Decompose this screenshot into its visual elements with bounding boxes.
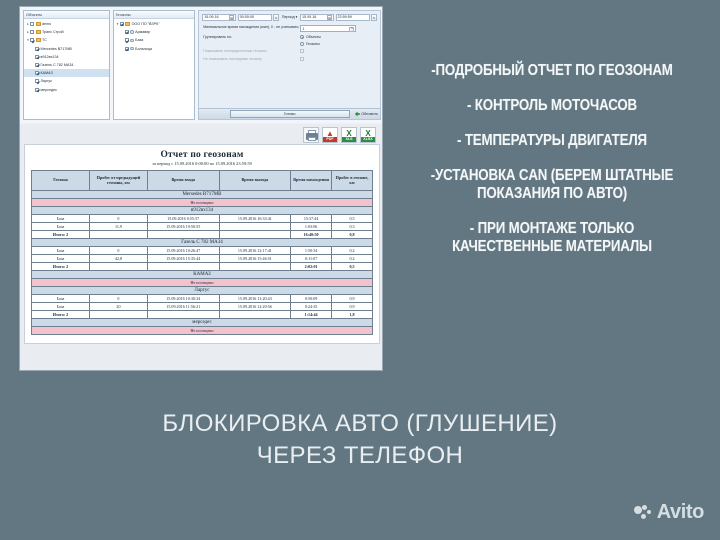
min-stay-stepper[interactable]: ⇅ xyxy=(349,27,354,33)
cell-prev-km: 0 xyxy=(89,295,147,303)
objects-tree-item[interactable]: ▸demo xyxy=(24,20,109,28)
not-visited-row: Не посещено xyxy=(32,327,373,335)
table-row: База11,915.09.2016 19:50:551:03:060,3 xyxy=(32,223,373,231)
settings-button-bar: Готово Обновить xyxy=(199,108,380,119)
extra-options-list[interactable]: Показывать неопределенные геозоныНе пока… xyxy=(203,49,376,62)
tree-checkbox[interactable] xyxy=(35,79,39,83)
tree-item-label: Газель С 782 МА34 xyxy=(41,63,74,67)
period-label: Период xyxy=(282,15,295,19)
pdf-glyph: ▲ xyxy=(323,129,337,138)
cell-geozone: База xyxy=(32,295,90,303)
geozone-icon xyxy=(130,39,134,43)
cell-prev-km: 0 xyxy=(89,247,147,255)
cell-exit: 15.09.2016 16:33:41 xyxy=(219,215,291,223)
not-visited-text: Не посещено xyxy=(32,327,373,335)
tree-checkbox[interactable] xyxy=(30,30,34,34)
group-total-row: Итого: 22:02:010,5 xyxy=(32,263,373,271)
objects-tree-item[interactable]: КАМАЗ xyxy=(24,69,109,77)
group-by-row: Группировать по: ОбъектыГеозоны xyxy=(203,35,376,46)
tree-item-label: Ларгус xyxy=(41,79,53,83)
table-column-header: Время нахождения xyxy=(291,171,332,191)
xls-export-icon[interactable]: X XLS xyxy=(341,127,357,143)
total-empty-cell xyxy=(89,263,147,271)
table-column-header: Время входа xyxy=(147,171,219,191)
geozones-tree-list[interactable]: ▾ООО ПО "ВЗРК"АрмавирБазаБольница xyxy=(114,19,195,53)
tree-checkbox[interactable] xyxy=(35,55,39,59)
cell-km: 0,5 xyxy=(332,215,373,223)
total-empty-cell xyxy=(147,231,219,239)
cell-geozone: База xyxy=(32,255,90,263)
date-range-row: 15.09.16 ▤ 00:00:00 ⇅ Период ▾ 15.09.16 … xyxy=(199,11,380,21)
geozones-tree-item[interactable]: База xyxy=(114,36,195,44)
tree-item-label: КАМАЗ xyxy=(41,71,53,75)
cell-duration: 1:50:54 xyxy=(291,247,332,255)
extra-option-row[interactable]: Показывать неопределенные геозоны xyxy=(203,49,376,54)
total-empty-cell xyxy=(89,311,147,319)
total-label: Итого: 2 xyxy=(32,311,90,319)
total-empty-cell xyxy=(147,311,219,319)
refresh-button[interactable]: Обновить xyxy=(355,112,378,117)
total-empty-cell xyxy=(219,263,291,271)
tree-item-label: мерседес xyxy=(41,88,58,92)
geozones-tree-item[interactable]: Армавир xyxy=(114,28,195,36)
tracking-app-screenshot: Объекты ▸demo▸Транс Строй▾ТСMercedes B71… xyxy=(19,6,383,371)
total-duration: 16:40:50 xyxy=(291,231,332,239)
total-label: Итого: 2 xyxy=(32,231,90,239)
cell-km: 0,2 xyxy=(332,255,373,263)
tree-checkbox[interactable] xyxy=(120,22,124,26)
cell-prev-km: 11,9 xyxy=(89,223,147,231)
objects-tree-item[interactable]: ▾ТС xyxy=(24,36,109,44)
total-km: 0,8 xyxy=(332,231,373,239)
tree-checkbox[interactable] xyxy=(35,47,39,51)
print-icon[interactable] xyxy=(303,127,319,143)
promo-line: -УСТАНОВКА CAN (БЕРЕМ ШТАТНЫЕ ПОКАЗАНИЯ … xyxy=(414,167,689,203)
time-from-field[interactable]: 00:00:00 xyxy=(238,14,272,22)
time-to-field[interactable]: 23:59:59 xyxy=(336,14,370,22)
calendar-icon-2[interactable]: ▤ xyxy=(327,15,332,20)
tree-item-label: demo xyxy=(42,22,51,26)
cell-enter: 15.09.2016 10:30:34 xyxy=(147,295,219,303)
extra-option-row[interactable]: Не показывать последнюю геозону xyxy=(203,57,376,62)
group-name: Mersedes B717MB xyxy=(32,191,373,199)
not-visited-row: Не посещено xyxy=(32,279,373,287)
group-name: КАМАЗ xyxy=(32,271,373,279)
cell-exit: 15.09.2016 12:20:56 xyxy=(219,303,291,311)
promo-feature-list: -ПОДРОБНЫЙ ОТЧЕТ ПО ГЕОЗОНАМ- КОНТРОЛЬ М… xyxy=(392,62,712,256)
cell-prev-km: 0 xyxy=(89,215,147,223)
cell-exit xyxy=(219,223,291,231)
not-visited-text: Не посещено xyxy=(32,279,373,287)
cell-geozone: База xyxy=(32,303,90,311)
extra-option-checkbox[interactable] xyxy=(300,49,304,53)
cell-km: 0,9 xyxy=(332,303,373,311)
caption-line-2: ЧЕРЕЗ ТЕЛЕФОН xyxy=(0,440,720,472)
extra-option-label: Не показывать последнюю геозону xyxy=(203,57,300,62)
tree-checkbox[interactable] xyxy=(125,38,129,42)
min-stay-row: Минимальное время нахождения (мин), 0 - … xyxy=(203,25,376,32)
cell-geozone: База xyxy=(32,247,90,255)
date-to-value: 15.09.16 xyxy=(302,15,316,19)
tree-checkbox[interactable] xyxy=(35,71,39,75)
table-row: База2015.09.2016 11:56:2115.09.2016 12:2… xyxy=(32,303,373,311)
cell-exit: 15.09.2016 15:46:51 xyxy=(219,255,291,263)
min-stay-value: 1 xyxy=(302,27,304,31)
table-column-header: Время выхода xyxy=(219,171,291,191)
geozone-icon xyxy=(130,47,134,51)
xlsx-glyph: X xyxy=(361,129,375,138)
folder-icon xyxy=(125,22,130,26)
radio-label: Геозоны xyxy=(306,42,320,46)
settings-fields: Минимальное время нахождения (мин), 0 - … xyxy=(199,21,380,62)
tree-item-label: Транс Строй xyxy=(42,30,64,34)
objects-tree-panel[interactable]: Объекты ▸demo▸Транс Строй▾ТСMercedes B71… xyxy=(23,10,110,120)
refresh-label: Обновить xyxy=(361,112,378,116)
objects-tree-item[interactable]: Ларгус xyxy=(24,77,109,85)
total-label: Итого: 2 xyxy=(32,263,90,271)
cell-km: 0,3 xyxy=(332,223,373,231)
total-empty-cell xyxy=(219,231,291,239)
cell-duration: 0:50:09 xyxy=(291,295,332,303)
cell-duration: 1:03:06 xyxy=(291,223,332,231)
table-row: База42,815.09.2016 15:35:4415.09.2016 15… xyxy=(32,255,373,263)
group-total-row: Итого: 216:40:500,8 xyxy=(32,231,373,239)
folder-icon xyxy=(36,38,41,42)
avito-logo-icon xyxy=(634,505,653,521)
radio-button[interactable] xyxy=(300,42,304,46)
tree-checkbox[interactable] xyxy=(125,30,129,34)
geozones-panel-title: Геозоны xyxy=(114,11,195,19)
group-by-option[interactable]: Объекты xyxy=(300,35,321,39)
report-area: ▲ PDF X XLS X XLSX Отчет по геозонам за … xyxy=(20,124,383,371)
extra-option-checkbox[interactable] xyxy=(300,57,304,61)
objects-tree-item[interactable]: ▸Транс Строй xyxy=(24,28,109,36)
report-title: Отчет по геозонам xyxy=(31,150,373,160)
avito-wordmark: Avito xyxy=(657,501,704,524)
cell-km: 0,9 xyxy=(332,295,373,303)
total-empty-cell xyxy=(147,263,219,271)
table-header-row: ГеозонаПробег от предыдущей геозоны, кмВ… xyxy=(32,171,373,191)
avito-watermark: Avito xyxy=(634,501,704,524)
total-km: 1,8 xyxy=(332,311,373,319)
geozones-tree-item[interactable]: Больница xyxy=(114,45,195,53)
group-name: Ларгус xyxy=(32,287,373,295)
table-row: База015.09.2016 10:30:3415.09.2016 11:20… xyxy=(32,295,373,303)
xls-glyph: X xyxy=(342,129,356,138)
tree-checkbox[interactable] xyxy=(35,88,39,92)
cell-exit: 15.09.2016 12:17:41 xyxy=(219,247,291,255)
cell-duration: 15:37:44 xyxy=(291,215,332,223)
geozone-icon xyxy=(130,30,134,34)
table-row: База015.09.2016 10:26:4715.09.2016 12:17… xyxy=(32,247,373,255)
group-header-row: мерседес xyxy=(32,319,373,327)
total-empty-cell xyxy=(219,311,291,319)
group-by-option[interactable]: Геозоны xyxy=(300,42,321,46)
objects-panel-title: Объекты xyxy=(24,11,109,19)
group-header-row: Газель С 782 МА34 xyxy=(32,239,373,247)
total-duration: 2:02:01 xyxy=(291,263,332,271)
extra-option-label: Показывать неопределенные геозоны xyxy=(203,49,300,54)
table-column-header: Пробег от предыдущей геозоны, км xyxy=(89,171,147,191)
table-column-header: Геозона xyxy=(32,171,90,191)
objects-tree-item[interactable]: Газель С 782 МА34 xyxy=(24,61,109,69)
cell-geozone: База xyxy=(32,215,90,223)
cell-prev-km: 42,8 xyxy=(89,255,147,263)
cell-km: 0,2 xyxy=(332,247,373,255)
group-by-label: Группировать по: xyxy=(203,35,300,40)
tree-checkbox[interactable] xyxy=(35,63,39,67)
bottom-caption: БЛОКИРОВКА АВТО (ГЛУШЕНИЕ) ЧЕРЕЗ ТЕЛЕФОН xyxy=(0,408,720,472)
date-from-value: 15.09.16 xyxy=(204,15,218,19)
cell-prev-km: 20 xyxy=(89,303,147,311)
xlsx-export-icon[interactable]: X XLSX xyxy=(360,127,376,143)
date-to-field[interactable]: 15.09.16 ▤ xyxy=(300,14,334,22)
group-header-row: в912вх134 xyxy=(32,207,373,215)
tree-item-label: Mercedes B717MB xyxy=(41,47,72,51)
printer-output-shape xyxy=(308,137,316,141)
cell-geozone: База xyxy=(32,223,90,231)
tree-item-label: ТС xyxy=(42,38,47,42)
objects-tree-item[interactable]: Mercedes B717MB xyxy=(24,45,109,53)
promo-line: - ПРИ МОНТАЖЕ ТОЛЬКО КАЧЕСТВЕННЫЕ МАТЕРИ… xyxy=(414,220,689,256)
radio-button[interactable] xyxy=(300,35,304,39)
time-to-stepper[interactable]: ⇅ xyxy=(371,14,377,22)
promo-line: - КОНТРОЛЬ МОТОЧАСОВ xyxy=(414,97,689,115)
date-from-field[interactable]: 15.09.16 ▤ xyxy=(202,14,236,22)
table-column-header: Пробег в геозоне, км xyxy=(332,171,373,191)
objects-tree-item[interactable]: мерседес xyxy=(24,86,109,94)
ready-button[interactable]: Готово xyxy=(230,110,350,118)
group-name: мерседес xyxy=(32,319,373,327)
group-name: в912вх134 xyxy=(32,207,373,215)
refresh-icon xyxy=(355,112,360,117)
tree-checkbox[interactable] xyxy=(30,38,34,42)
tree-item-label: ООО ПО "ВЗРК" xyxy=(132,22,160,26)
radio-label: Объекты xyxy=(306,35,321,39)
report-sheet: Отчет по геозонам за период с 15.09.2016… xyxy=(24,144,380,344)
geozones-tree-item[interactable]: ▾ООО ПО "ВЗРК" xyxy=(114,20,195,28)
cell-enter: 15.09.2016 11:56:21 xyxy=(147,303,219,311)
cell-enter: 15.09.2016 19:50:55 xyxy=(147,223,219,231)
tree-item-label: Больница xyxy=(135,47,152,51)
objects-tree-list[interactable]: ▸demo▸Транс Строй▾ТСMercedes B717MBв912в… xyxy=(24,19,109,94)
group-by-radios[interactable]: ОбъектыГеозоны xyxy=(300,35,321,46)
promo-line: - ТЕМПЕРАТУРЫ ДВИГАТЕЛЯ xyxy=(414,132,689,150)
tree-checkbox[interactable] xyxy=(30,22,34,26)
promo-line: -ПОДРОБНЫЙ ОТЧЕТ ПО ГЕОЗОНАМ xyxy=(414,62,689,80)
cell-enter: 15.09.2016 10:26:47 xyxy=(147,247,219,255)
total-duration: 1:14:44 xyxy=(291,311,332,319)
caption-line-1: БЛОКИРОВКА АВТО (ГЛУШЕНИЕ) xyxy=(0,408,720,440)
min-stay-input[interactable]: 1 ⇅ xyxy=(300,25,356,32)
min-stay-label: Минимальное время нахождения (мин), 0 - … xyxy=(203,25,300,30)
tree-checkbox[interactable] xyxy=(125,47,129,51)
table-body: Mersedes B717MBНе посещенов912вх134База0… xyxy=(32,191,373,335)
group-header-row: Mersedes B717MB xyxy=(32,191,373,199)
cell-exit: 15.09.2016 11:20:43 xyxy=(219,295,291,303)
total-km: 0,5 xyxy=(332,263,373,271)
time-from-stepper[interactable]: ⇅ xyxy=(273,14,279,22)
table-row: База015.09.2016 0:55:5715.09.2016 16:33:… xyxy=(32,215,373,223)
cell-duration: 0:24:35 xyxy=(291,303,332,311)
group-header-row: КАМАЗ xyxy=(32,271,373,279)
cell-duration: 0:11:07 xyxy=(291,255,332,263)
objects-tree-item[interactable]: в912вх134 xyxy=(24,53,109,61)
not-visited-text: Не посещено xyxy=(32,199,373,207)
geozone-report-table: ГеозонаПробег от предыдущей геозоны, кмВ… xyxy=(31,170,373,335)
cell-enter: 15.09.2016 0:55:57 xyxy=(147,215,219,223)
group-header-row: Ларгус xyxy=(32,287,373,295)
not-visited-row: Не посещено xyxy=(32,199,373,207)
calendar-icon[interactable]: ▤ xyxy=(229,15,234,20)
cell-enter: 15.09.2016 15:35:44 xyxy=(147,255,219,263)
time-from-value: 00:00:00 xyxy=(240,15,254,19)
config-toolbar: Объекты ▸demo▸Транс Строй▾ТСMercedes B71… xyxy=(20,7,383,123)
total-empty-cell xyxy=(89,231,147,239)
report-settings-panel: 15.09.16 ▤ 00:00:00 ⇅ Период ▾ 15.09.16 … xyxy=(198,10,381,120)
group-name: Газель С 782 МА34 xyxy=(32,239,373,247)
chevron-down-icon[interactable]: ▾ xyxy=(296,15,298,19)
period-selector[interactable]: Период ▾ xyxy=(281,15,299,19)
folder-icon xyxy=(36,30,41,34)
tree-item-label: База xyxy=(135,38,143,42)
tree-item-label: в912вх134 xyxy=(41,55,59,59)
pdf-export-icon[interactable]: ▲ PDF xyxy=(322,127,338,143)
tree-item-label: Армавир xyxy=(135,30,150,34)
group-total-row: Итого: 21:14:441,8 xyxy=(32,311,373,319)
export-toolbar[interactable]: ▲ PDF X XLS X XLSX xyxy=(24,127,380,144)
geozones-tree-panel[interactable]: Геозоны ▾ООО ПО "ВЗРК"АрмавирБазаБольниц… xyxy=(113,10,196,120)
time-to-value: 23:59:59 xyxy=(338,15,352,19)
folder-icon xyxy=(36,22,41,26)
report-subtitle: за период с 15.09.2016 0:00:00 по 15.09.… xyxy=(31,161,373,166)
